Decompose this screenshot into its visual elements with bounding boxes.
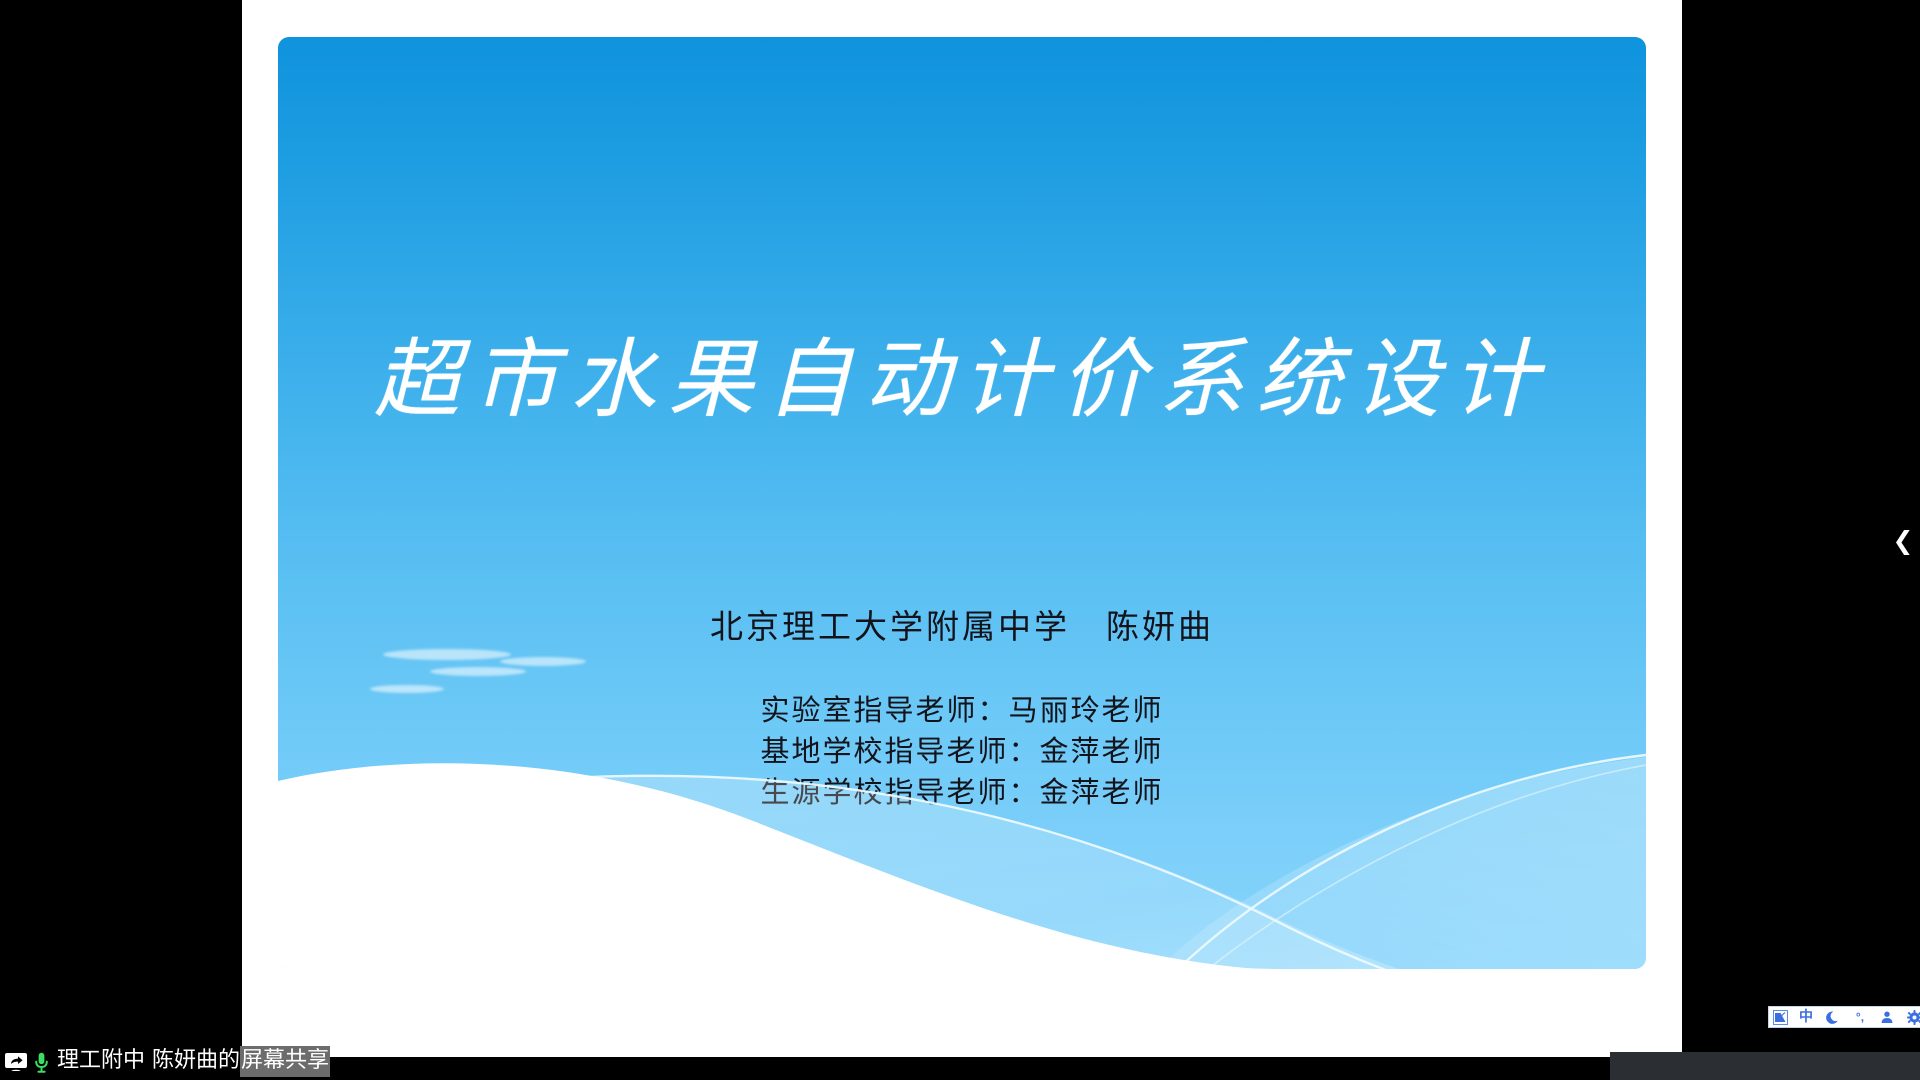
presentation-slide[interactable]: 超市水果自动计价系统设计 北京理工大学附属中学 陈妍曲 实验室指导老师：马丽玲老… [278, 37, 1646, 969]
presenter-line: 北京理工大学附属中学 陈妍曲 [278, 600, 1646, 648]
screen-root: 超市水果自动计价系统设计 北京理工大学附属中学 陈妍曲 实验室指导老师：马丽玲老… [0, 0, 1920, 1080]
screen-share-label-plain: 理工附中 陈妍曲的 [57, 1048, 240, 1073]
punctuation-toggle-icon[interactable]: °, [1851, 1008, 1869, 1026]
screen-share-label-highlighted: 屏幕共享 [240, 1046, 330, 1077]
screen-share-status-bar: 理工附中 陈妍曲的屏幕共享 [0, 1044, 332, 1080]
cloud-streak-2 [430, 667, 526, 676]
microphone-icon[interactable] [33, 1051, 49, 1073]
cloud-streak-1 [383, 649, 511, 660]
advisor-block: 实验室指导老师：马丽玲老师 基地学校指导老师：金萍老师 生源学校指导老师：金萍老… [278, 690, 1646, 813]
advisor-line-base-school: 基地学校指导老师：金萍老师 [278, 731, 1646, 772]
chinese-english-toggle-icon[interactable]: 中 [1797, 1008, 1815, 1026]
sogou-logo-icon[interactable] [1773, 1010, 1788, 1025]
collapse-panel-chevron-icon[interactable]: ❮ [1890, 520, 1916, 560]
advisor-line-home-school: 生源学校指导老师：金萍老师 [278, 772, 1646, 813]
settings-gear-icon[interactable] [1905, 1008, 1920, 1026]
user-account-icon[interactable] [1878, 1008, 1896, 1026]
ime-language-bar[interactable]: 中 °, [1768, 1006, 1920, 1028]
windows-taskbar[interactable] [1610, 1052, 1920, 1080]
half-full-width-moon-icon[interactable] [1824, 1008, 1842, 1026]
slide-title: 超市水果自动计价系统设计 [278, 335, 1646, 425]
advisor-line-lab: 实验室指导老师：马丽玲老师 [278, 690, 1646, 731]
screen-share-label: 理工附中 陈妍曲的屏幕共享 [55, 1048, 332, 1076]
cloud-streak-4 [500, 657, 586, 666]
screen-share-icon[interactable] [5, 1052, 27, 1072]
